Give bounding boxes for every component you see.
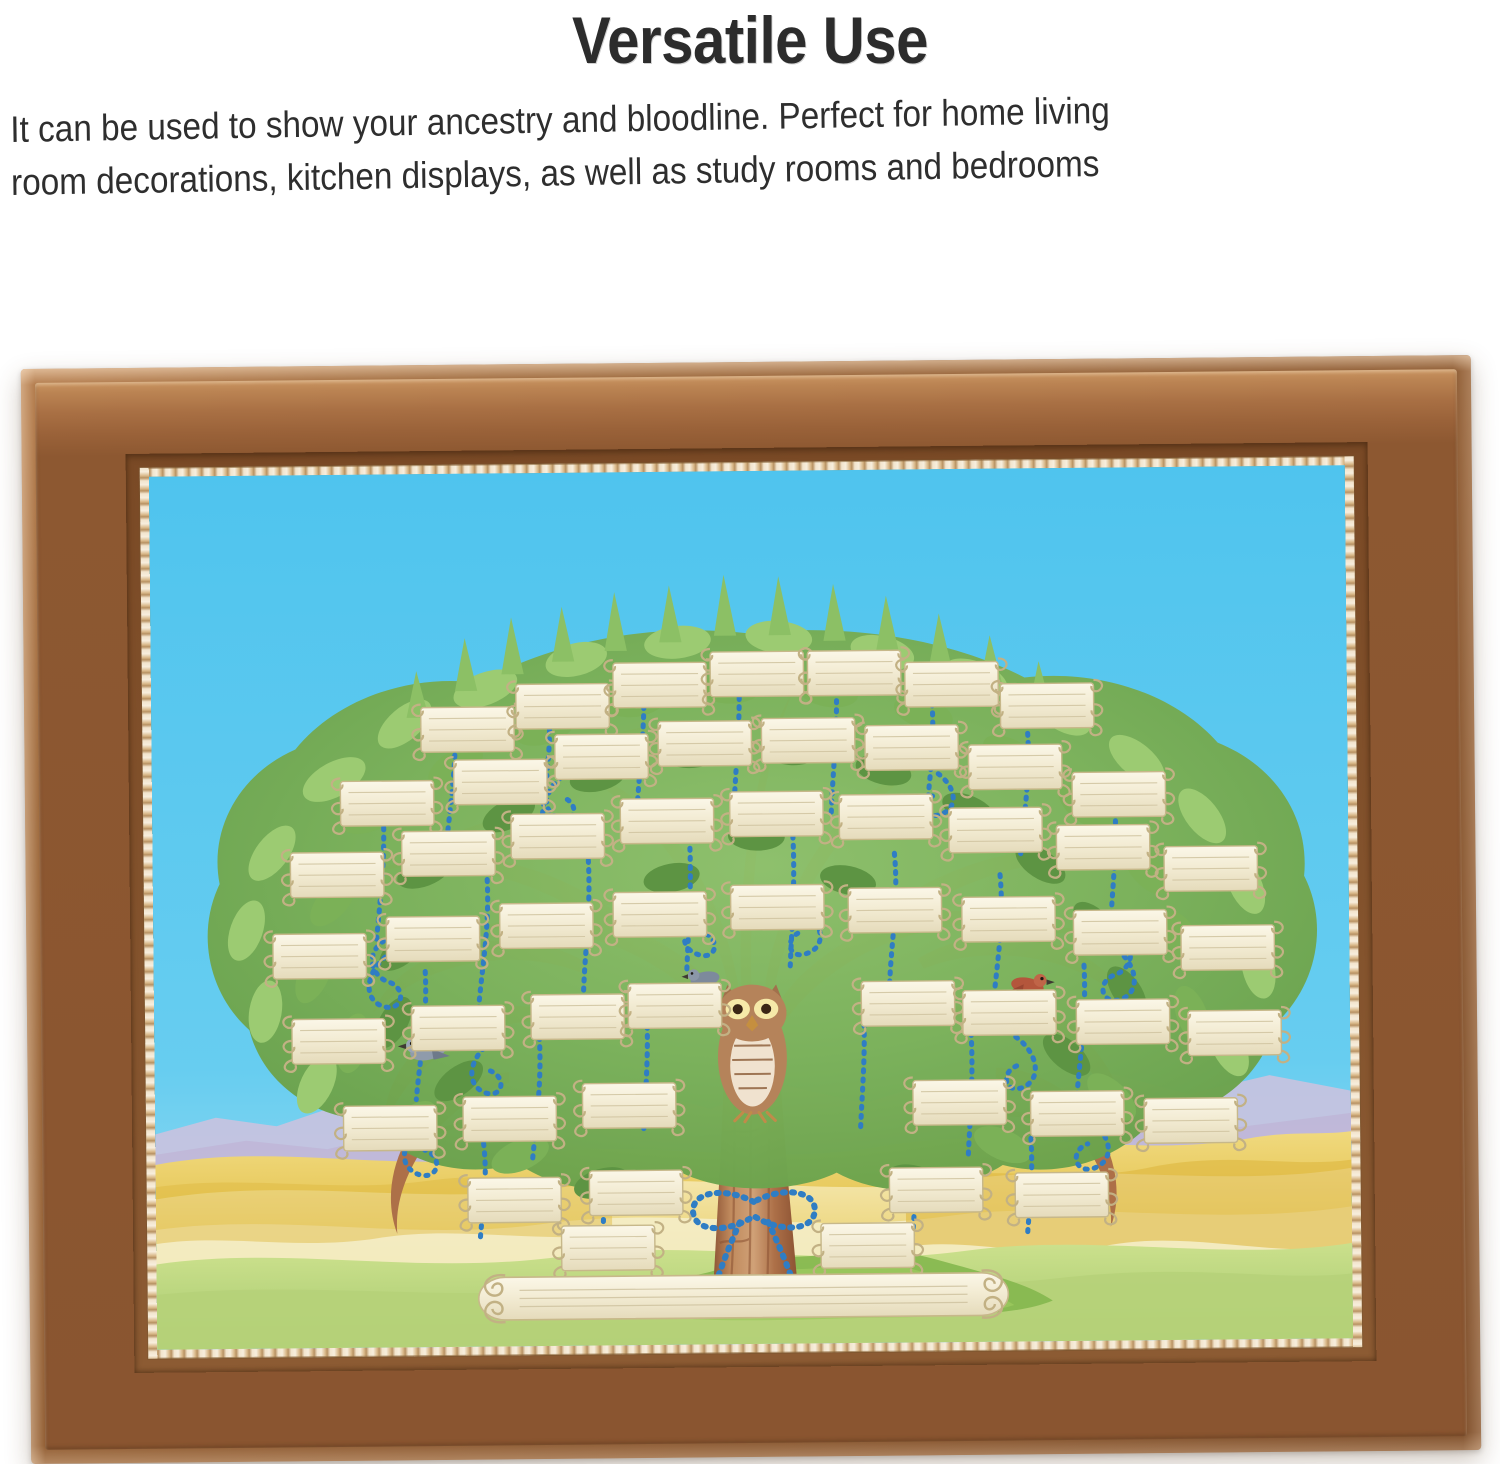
nameplate	[992, 680, 1103, 736]
nameplate	[831, 791, 942, 847]
nameplate	[954, 987, 1065, 1043]
nameplate	[445, 756, 556, 812]
nameplate	[546, 731, 657, 787]
nameplate	[896, 658, 1007, 714]
nameplate	[378, 913, 489, 969]
nameplate	[581, 1167, 692, 1223]
page-title: Versatile Use	[90, 6, 1410, 75]
nameplate	[604, 659, 715, 715]
nameplate	[1063, 768, 1174, 824]
nameplate	[1179, 1007, 1290, 1063]
family-tree-artwork	[149, 465, 1353, 1349]
nameplate	[282, 849, 393, 905]
header-block: Versatile Use It can be used to show you…	[0, 0, 1500, 230]
nameplate	[840, 884, 951, 940]
nameplate	[1172, 922, 1283, 978]
nameplate	[553, 1222, 664, 1278]
nameplate	[393, 828, 504, 884]
nameplate	[283, 1015, 394, 1071]
nameplate	[454, 1093, 565, 1149]
nameplate	[335, 1102, 446, 1158]
nameplate	[619, 980, 730, 1036]
family-tree-illustration	[149, 465, 1353, 1349]
nameplate	[612, 795, 723, 851]
bottom-nameplate	[479, 1270, 1009, 1322]
nameplate	[1068, 996, 1179, 1052]
nameplate	[960, 741, 1071, 797]
frame-beaded-border	[140, 456, 1362, 1359]
nameplate	[701, 648, 812, 704]
nameplate	[522, 991, 633, 1047]
nameplate	[1155, 843, 1266, 899]
nameplate	[1022, 1088, 1133, 1144]
nameplate	[721, 788, 832, 844]
nameplate	[403, 1002, 514, 1058]
nameplate	[649, 718, 760, 774]
nameplate	[1065, 906, 1176, 962]
page-root: Versatile Use It can be used to show you…	[0, 0, 1500, 1464]
nameplate	[574, 1080, 685, 1136]
nameplate	[940, 804, 1051, 860]
nameplate	[507, 680, 618, 736]
nameplate	[799, 647, 910, 703]
nameplate	[722, 881, 833, 937]
nameplate	[332, 777, 443, 833]
nameplate	[264, 930, 375, 986]
nameplate	[1135, 1095, 1246, 1151]
nameplate	[856, 722, 967, 778]
nameplate	[502, 810, 613, 866]
page-description: It can be used to show your ancestry and…	[10, 81, 1348, 209]
picture-frame	[21, 355, 1481, 1464]
product-photo	[21, 355, 1481, 1464]
nameplate	[604, 889, 715, 945]
nameplate	[491, 900, 602, 956]
nameplate	[853, 978, 964, 1034]
nameplate	[459, 1174, 570, 1230]
nameplate	[1006, 1169, 1117, 1225]
nameplate	[812, 1220, 923, 1276]
nameplate	[881, 1164, 992, 1220]
nameplate	[753, 715, 864, 771]
nameplate	[953, 893, 1064, 949]
nameplate	[904, 1077, 1015, 1133]
nameplate	[1048, 821, 1159, 877]
